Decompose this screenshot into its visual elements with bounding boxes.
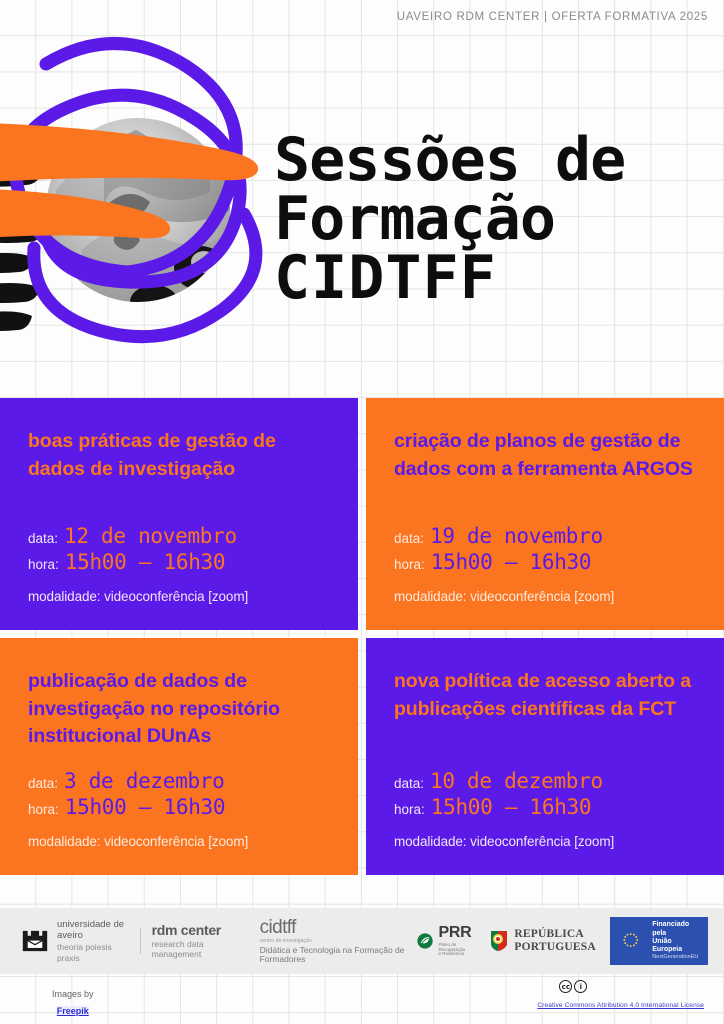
institution-logos: universidade de aveiro theoria poiesis p… bbox=[22, 918, 417, 963]
cidtff-sub: centro de investigação bbox=[260, 939, 418, 944]
creative-commons-icon: cc bbox=[559, 980, 572, 993]
date-label: data: bbox=[28, 532, 58, 546]
republica-wordmark: REPÚBLICA PORTUGUESA bbox=[514, 928, 595, 953]
session-time-row: hora: 15h00 – 16h30 bbox=[28, 797, 342, 818]
title-line-3: CIDTFF bbox=[274, 250, 714, 307]
decorative-artwork bbox=[0, 10, 286, 350]
ua-motto: theoria poiesis praxis bbox=[57, 942, 129, 963]
universidade-aveiro-logo: universidade de aveiro theoria poiesis p… bbox=[22, 919, 129, 964]
date-value: 10 de dezembro bbox=[430, 771, 603, 792]
eu-funding-logo: Financiado pela União Europeia NextGener… bbox=[610, 917, 708, 964]
time-label: hora: bbox=[394, 803, 425, 817]
date-label: data: bbox=[28, 777, 58, 791]
session-card-4[interactable]: nova política de acesso aberto a publica… bbox=[366, 638, 724, 875]
eu-line3: NextGenerationEU bbox=[652, 954, 701, 960]
time-value: 15h00 – 16h30 bbox=[431, 797, 591, 818]
session-cards-grid: boas práticas de gestão de dados de inve… bbox=[0, 398, 724, 875]
session-card-1[interactable]: boas práticas de gestão de dados de inve… bbox=[0, 398, 358, 630]
rdm-tagline: research data management bbox=[152, 939, 237, 959]
session-title: publicação de dados de investigação no r… bbox=[28, 668, 330, 751]
prr-logo: PRR Plano de Recuperação e Resiliência bbox=[417, 925, 475, 957]
republica-line1: REPÚBLICA bbox=[514, 928, 595, 941]
session-card-3[interactable]: publicação de dados de investigação no r… bbox=[0, 638, 358, 875]
poster-root: UAVEIRO RDM CENTER | OFERTA FORMATIVA 20… bbox=[0, 0, 724, 1024]
cidtff-logo: cidtff centro de investigação Didática e… bbox=[260, 918, 418, 963]
credits-row: Images by Freepik cc i Creative Commons … bbox=[0, 974, 724, 1024]
time-label: hora: bbox=[394, 558, 425, 572]
time-value: 15h00 – 16h30 bbox=[65, 552, 225, 573]
date-value: 19 de novembro bbox=[430, 526, 603, 547]
session-modality: modalidade: videoconferência [zoom] bbox=[28, 834, 342, 849]
session-card-2[interactable]: criação de planos de gestão de dados com… bbox=[366, 398, 724, 630]
title-line-2: Formação bbox=[274, 191, 714, 248]
images-by-label: Images by bbox=[52, 989, 94, 1000]
freepik-link[interactable]: Freepik bbox=[57, 1006, 89, 1016]
session-date-row: data: 10 de dezembro bbox=[394, 771, 708, 792]
funding-logos: PRR Plano de Recuperação e Resiliência R… bbox=[417, 917, 708, 964]
cc-license-credit: cc i Creative Commons Attribution 4.0 In… bbox=[537, 980, 704, 1012]
ua-crown-icon bbox=[22, 930, 48, 952]
title-line-1: Sessões de bbox=[274, 132, 714, 189]
footer-logo-band: universidade de aveiro theoria poiesis p… bbox=[0, 908, 724, 974]
page-title: Sessões de Formação CIDTFF bbox=[274, 132, 714, 307]
ua-wordmark: universidade de aveiro theoria poiesis p… bbox=[57, 919, 129, 964]
date-label: data: bbox=[394, 532, 424, 546]
session-time-row: hora: 15h00 – 16h30 bbox=[394, 797, 708, 818]
attribution-icon: i bbox=[574, 980, 587, 993]
session-meta: data: 3 de dezembro hora: 15h00 – 16h30 … bbox=[28, 771, 342, 849]
session-title: nova política de acesso aberto a publica… bbox=[394, 668, 696, 723]
session-time-row: hora: 15h00 – 16h30 bbox=[394, 552, 708, 573]
session-date-row: data: 12 de novembro bbox=[28, 526, 342, 547]
date-value: 12 de novembro bbox=[64, 526, 237, 547]
cc-license-link[interactable]: Creative Commons Attribution 4.0 Interna… bbox=[537, 1002, 704, 1009]
eu-wordmark: Financiado pela União Europeia NextGener… bbox=[652, 921, 701, 960]
session-time-row: hora: 15h00 – 16h30 bbox=[28, 552, 342, 573]
prr-wordmark: PRR Plano de Recuperação e Resiliência bbox=[439, 925, 476, 957]
session-meta: data: 10 de dezembro hora: 15h00 – 16h30… bbox=[394, 771, 708, 849]
time-value: 15h00 – 16h30 bbox=[65, 797, 225, 818]
cc-badges: cc i bbox=[559, 980, 704, 993]
prr-name: PRR bbox=[439, 925, 476, 942]
session-meta: data: 19 de novembro hora: 15h00 – 16h30… bbox=[394, 526, 708, 604]
eu-flag-icon bbox=[615, 929, 646, 952]
freepik-credit: Images by Freepik bbox=[52, 989, 94, 1020]
logo-divider bbox=[140, 928, 141, 954]
date-label: data: bbox=[394, 777, 424, 791]
portugal-shield-icon bbox=[489, 930, 509, 952]
prr-sub2: e Resiliência bbox=[439, 952, 476, 957]
session-meta: data: 12 de novembro hora: 15h00 – 16h30… bbox=[28, 526, 342, 604]
session-date-row: data: 3 de dezembro bbox=[28, 771, 342, 792]
session-title: boas práticas de gestão de dados de inve… bbox=[28, 428, 330, 483]
time-label: hora: bbox=[28, 803, 59, 817]
date-value: 3 de dezembro bbox=[64, 771, 224, 792]
rdm-name: rdm center bbox=[152, 922, 237, 939]
eu-line1: Financiado pela bbox=[652, 921, 701, 938]
cidtff-name: cidtff bbox=[260, 918, 418, 938]
ua-name: universidade de aveiro bbox=[57, 919, 129, 943]
eu-line2: União Europeia bbox=[652, 938, 701, 955]
time-label: hora: bbox=[28, 558, 59, 572]
session-title: criação de planos de gestão de dados com… bbox=[394, 428, 696, 483]
artwork-svg bbox=[0, 10, 286, 350]
session-modality: modalidade: videoconferência [zoom] bbox=[28, 589, 342, 604]
session-modality: modalidade: videoconferência [zoom] bbox=[394, 834, 708, 849]
session-date-row: data: 19 de novembro bbox=[394, 526, 708, 547]
time-value: 15h00 – 16h30 bbox=[431, 552, 591, 573]
cidtff-tagline: Didática e Tecnologia na Formação de For… bbox=[260, 946, 418, 964]
hero-section: Sessões de Formação CIDTFF bbox=[0, 0, 724, 396]
prr-leaf-icon bbox=[417, 931, 433, 951]
republica-line2: PORTUGUESA bbox=[514, 941, 595, 954]
rdm-center-logo: rdm center research data management bbox=[152, 922, 237, 959]
republica-portuguesa-logo: REPÚBLICA PORTUGUESA bbox=[489, 928, 595, 953]
session-modality: modalidade: videoconferência [zoom] bbox=[394, 589, 708, 604]
